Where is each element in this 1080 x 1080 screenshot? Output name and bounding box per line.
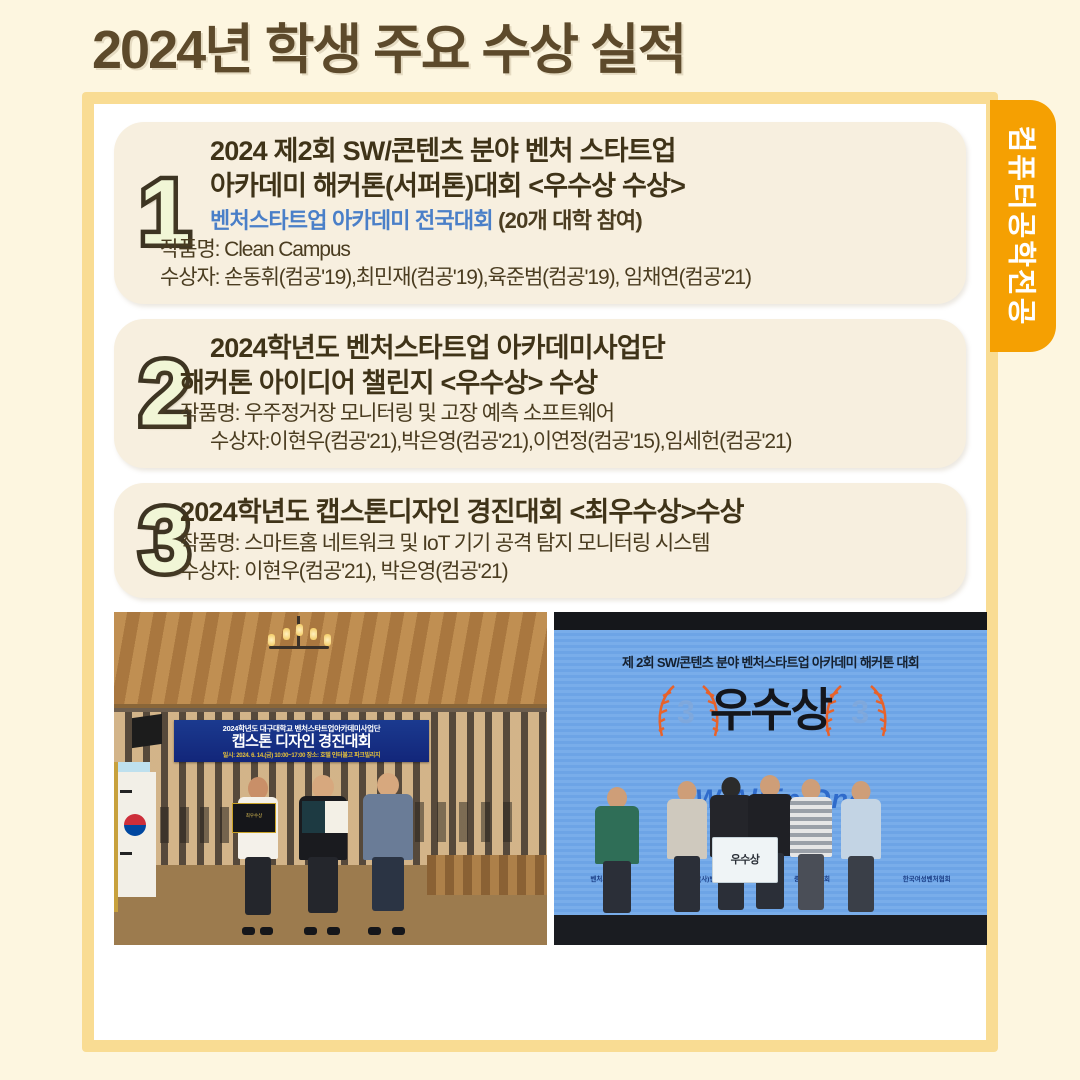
speaker-box [132,714,162,748]
award-card-1-work: 작품명: Clean Campus [160,236,952,264]
person-winner-5 [836,781,886,917]
award-card-1-subtitle-competition: 벤처스타트업 아카데미 전국대회 [210,208,493,233]
award-card-2: 2 2024학년도 벤처스타트업 아카데미사업단 해커톤 아이디어 챌린지 <우… [114,319,966,468]
content-panel: 1 2024 제2회 SW/콘텐츠 분야 벤처 스타트업 아카데미 해커톤(서퍼… [94,104,986,1040]
award-card-3-body: 2024학년도 캡스톤디자인 경진대회 <최우수상>수상 작품명: 스마트홈 네… [210,495,952,586]
page-header: 2024년 학생 주요 수상 실적 [0,0,1080,88]
award-card-3-work: 작품명: 스마트홈 네트워크 및 IoT 기기 공격 탐지 모니터링 시스템 [180,530,952,558]
award-card-2-heading-line2: 해커톤 아이디어 챌린지 <우수상> 수상 [180,366,952,401]
department-side-tab: 컴퓨터공학전공 [990,100,1056,352]
award-card-2-body: 2024학년도 벤처스타트업 아카데미사업단 해커톤 아이디어 챌린지 <우수상… [210,331,952,456]
chandelier-icon [264,616,334,668]
prize-plaque: 최우수상 [232,803,276,833]
content-frame: 1 2024 제2회 SW/콘텐츠 분야 벤처 스타트업 아카데미 해커톤(서퍼… [82,92,998,1052]
award-card-1-winners: 수상자: 손동휘(컴공'19),최민재(컴공'19),육준범(컴공'19), 임… [160,264,952,292]
award-plaque-text: 우수상 [713,851,777,867]
department-side-tab-label: 컴퓨터공학전공 [1002,126,1044,327]
stage-screen-title: 제 2회 SW/콘텐츠 분야 벤처스타트업 아카데미 해커톤 대회 [554,652,987,671]
award-title-text: 우수상 [554,687,987,733]
floor-wood-strip [427,855,547,895]
person-student-male [294,775,352,927]
award-card-3-winners: 수상자: 이현우(컴공'21), 박은영(컴공'21) [180,558,952,586]
stage-floor [554,915,987,945]
award-card-2-work: 작품명: 우주정거장 모니터링 및 고장 예측 소프트웨어 [180,400,952,428]
award-card-1-subtitle-note: (20개 대학 참여) [498,208,642,233]
award-card-1-body: 2024 제2회 SW/콘텐츠 분야 벤처 스타트업 아카데미 해커톤(서퍼톤)… [210,134,952,292]
sponsor-logo-4: 한국여성벤처협회 [903,873,951,883]
award-card-1: 1 2024 제2회 SW/콘텐츠 분야 벤처 스타트업 아카데미 해커톤(서퍼… [114,122,966,304]
person-student-female [232,777,284,927]
hackathon-award-photo: 제 2회 SW/콘텐츠 분야 벤처스타트업 아카데미 해커톤 대회 3 3 [554,612,987,945]
photo-gallery: 2024학년도 대구대학교 벤처스타트업아카데미사업단 캡스톤 디자인 경진대회… [114,612,966,945]
event-banner-line2: 캡스톤 디자인 경진대회 [232,734,371,750]
award-card-2-winners: 수상자:이현우(컴공'21),박은영(컴공'21),이연정(컴공'15),임세헌… [210,428,952,456]
certificate-folder [302,801,348,833]
person-winner-4 [786,779,836,917]
event-banner-line3: 일시: 2024. 6. 14.(금) 10:00~17:00 장소: 호텔 인… [223,750,381,759]
audience-right [415,802,525,842]
award-plaque: 우수상 [712,837,778,883]
award-card-1-subtitle: 벤처스타트업 아카데미 전국대회 (20개 대학 참여) [210,206,952,236]
award-card-1-heading-line1: 2024 제2회 SW/콘텐츠 분야 벤처 스타트업 [210,134,952,169]
award-card-1-heading-line2: 아카데미 해커톤(서퍼톤)대회 <우수상 수상> [210,169,952,204]
page-title: 2024년 학생 주요 수상 실적 [92,5,685,84]
person-host [590,787,644,917]
award-card-2-heading-line1: 2024학년도 벤처스타트업 아카데미사업단 [210,331,952,366]
award-card-list: 1 2024 제2회 SW/콘텐츠 분야 벤처 스타트업 아카데미 해커톤(서퍼… [114,122,966,598]
event-banner: 2024학년도 대구대학교 벤처스타트업아카데미사업단 캡스톤 디자인 경진대회… [174,720,429,762]
capstone-ceremony-photo: 2024학년도 대구대학교 벤처스타트업아카데미사업단 캡스톤 디자인 경진대회… [114,612,547,945]
award-card-3: 3 2024학년도 캡스톤디자인 경진대회 <최우수상>수상 작품명: 스마트홈… [114,483,966,598]
person-winner-1 [662,781,712,917]
person-professor [358,773,418,927]
award-card-3-heading-line1: 2024학년도 캡스톤디자인 경진대회 <최우수상>수상 [180,495,952,530]
korean-flag [116,772,156,897]
